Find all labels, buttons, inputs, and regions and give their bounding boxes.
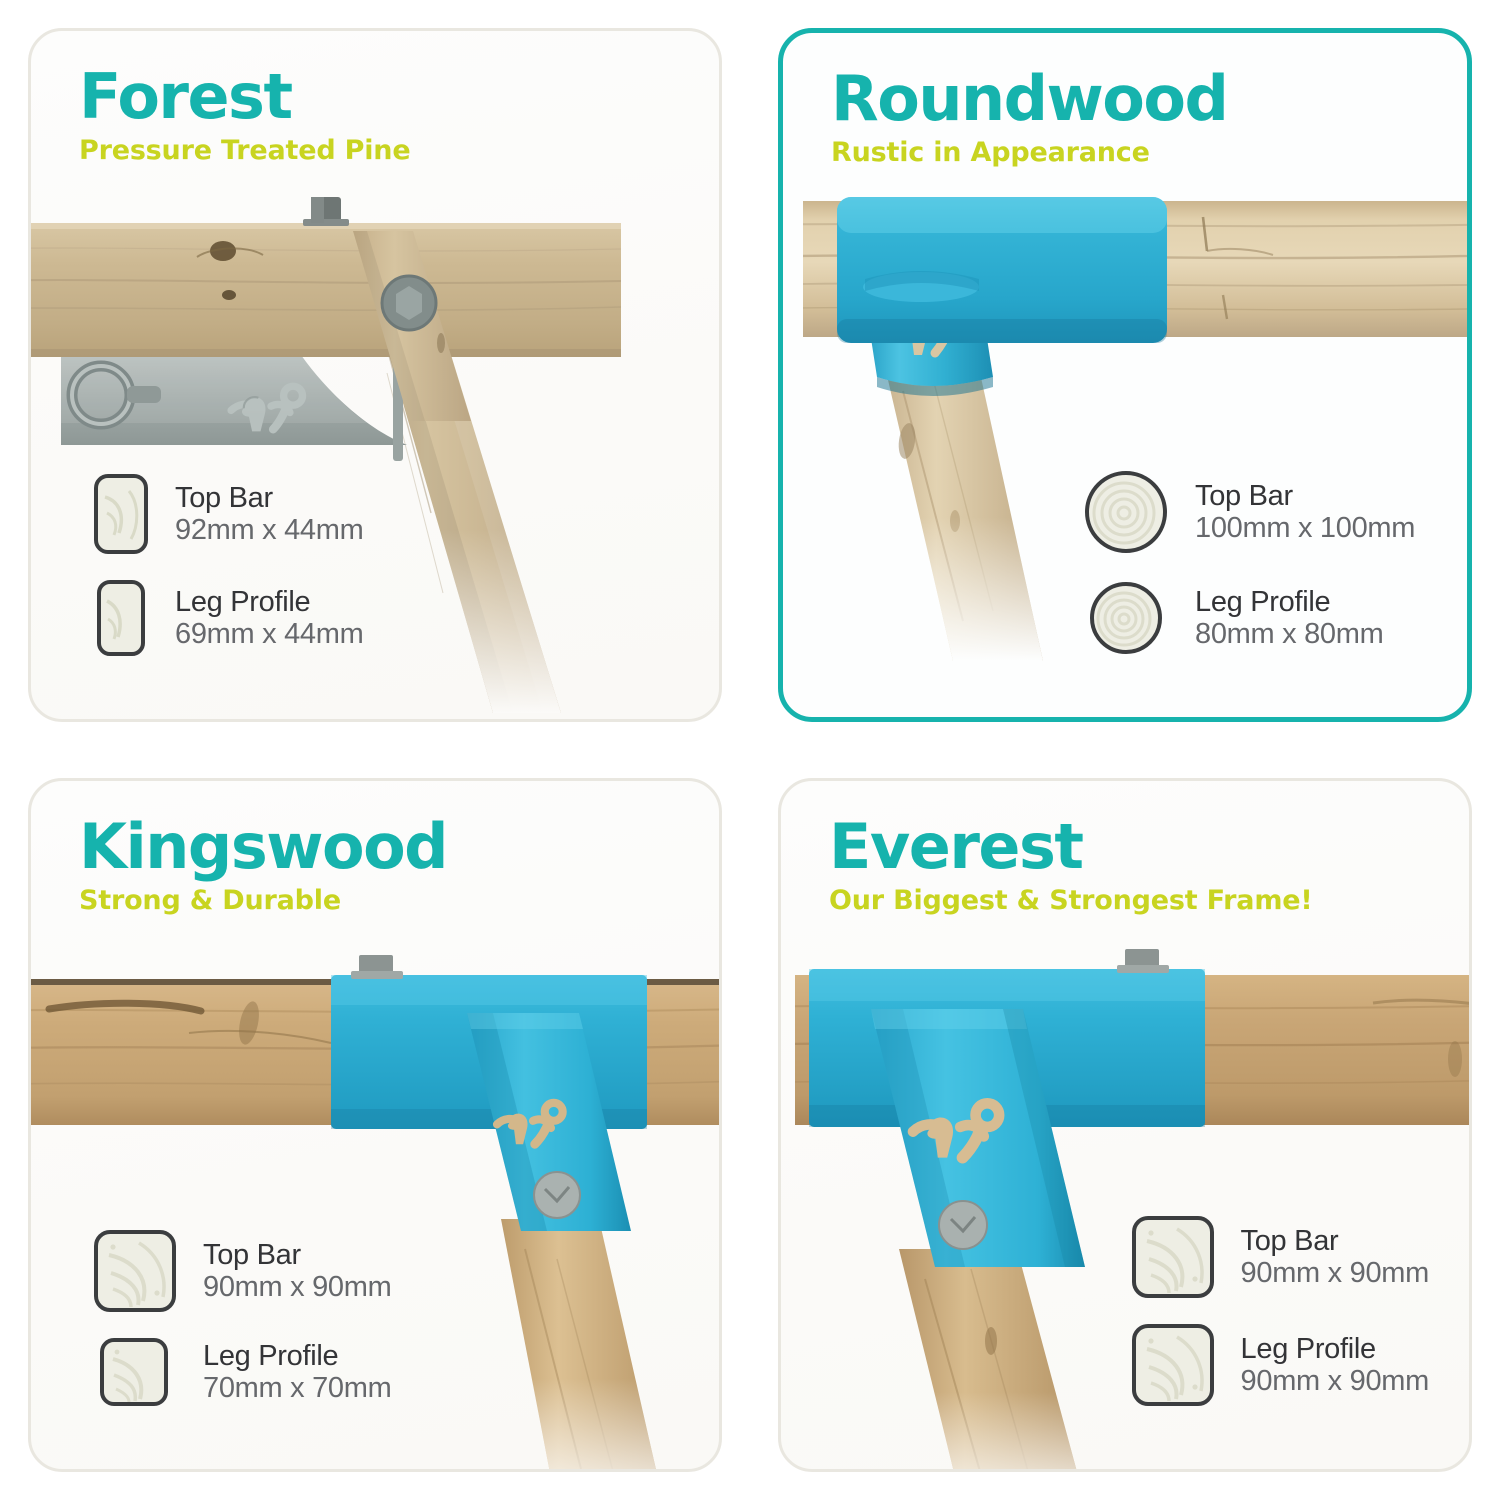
frame-card-roundwood[interactable]: Roundwood Rustic in Appearance bbox=[778, 28, 1472, 722]
top-bar-profile-circle-icon bbox=[1083, 469, 1169, 555]
spec-list-roundwood: Top Bar 100mm x 100mm bbox=[1083, 469, 1415, 657]
leg-profile-rounded-rectangle-icon bbox=[93, 579, 149, 657]
spec-row: Top Bar 90mm x 90mm bbox=[1131, 1215, 1429, 1299]
spec-row: Top Bar 92mm x 44mm bbox=[93, 473, 363, 555]
spec-dimension: 80mm x 80mm bbox=[1195, 618, 1383, 650]
card-title: Kingswood bbox=[79, 815, 447, 879]
spec-row: Top Bar 100mm x 100mm bbox=[1083, 469, 1415, 555]
spec-label: Top Bar bbox=[175, 482, 273, 514]
spec-row: Leg Profile 70mm x 70mm bbox=[93, 1337, 391, 1407]
frame-card-everest[interactable]: Everest Our Biggest & Strongest Frame! bbox=[778, 778, 1472, 1472]
spec-label: Leg Profile bbox=[1195, 586, 1330, 618]
spec-dimension: 90mm x 90mm bbox=[1241, 1365, 1429, 1397]
card-header-everest: Everest Our Biggest & Strongest Frame! bbox=[829, 815, 1312, 916]
spec-dimension: 92mm x 44mm bbox=[175, 514, 363, 546]
card-header-roundwood: Roundwood Rustic in Appearance bbox=[831, 67, 1227, 168]
top-bar-profile-square-icon bbox=[93, 1229, 177, 1313]
card-subtitle: Strong & Durable bbox=[79, 885, 447, 916]
card-header-forest: Forest Pressure Treated Pine bbox=[79, 65, 410, 166]
spec-list-kingswood: Top Bar 90mm x 90mm bbox=[93, 1229, 391, 1407]
spec-dimension: 100mm x 100mm bbox=[1195, 512, 1415, 544]
frame-card-forest[interactable]: Forest Pressure Treated Pine Top Bar bbox=[28, 28, 722, 722]
spec-row: Leg Profile 69mm x 44mm bbox=[93, 579, 363, 657]
spec-dimension: 69mm x 44mm bbox=[175, 618, 363, 650]
spec-dimension: 70mm x 70mm bbox=[203, 1372, 391, 1404]
card-slot-roundwood: Roundwood Rustic in Appearance bbox=[750, 0, 1500, 750]
spec-label: Leg Profile bbox=[175, 586, 310, 618]
spec-dimension: 90mm x 90mm bbox=[203, 1271, 391, 1303]
card-title: Everest bbox=[829, 815, 1312, 879]
card-header-kingswood: Kingswood Strong & Durable bbox=[79, 815, 447, 916]
spec-list-forest: Top Bar 92mm x 44mm Leg Profile bbox=[93, 473, 363, 657]
card-subtitle: Our Biggest & Strongest Frame! bbox=[829, 885, 1312, 916]
card-slot-everest: Everest Our Biggest & Strongest Frame! bbox=[750, 750, 1500, 1500]
card-subtitle: Pressure Treated Pine bbox=[79, 135, 410, 166]
card-subtitle: Rustic in Appearance bbox=[831, 137, 1227, 168]
spec-label: Leg Profile bbox=[203, 1340, 338, 1372]
card-slot-forest: Forest Pressure Treated Pine Top Bar bbox=[0, 0, 750, 750]
leg-profile-circle-icon bbox=[1083, 579, 1169, 657]
frame-card-kingswood[interactable]: Kingswood Strong & Durable bbox=[28, 778, 722, 1472]
spec-row: Top Bar 90mm x 90mm bbox=[93, 1229, 391, 1313]
leg-profile-square-icon bbox=[1131, 1323, 1215, 1407]
card-title: Roundwood bbox=[831, 67, 1227, 131]
spec-list-everest: Top Bar 90mm x 90mm bbox=[1131, 1215, 1429, 1407]
spec-row: Leg Profile 90mm x 90mm bbox=[1131, 1323, 1429, 1407]
spec-label: Leg Profile bbox=[1241, 1333, 1376, 1365]
top-bar-profile-square-icon bbox=[1131, 1215, 1215, 1299]
spec-label: Top Bar bbox=[1241, 1225, 1339, 1257]
card-slot-kingswood: Kingswood Strong & Durable bbox=[0, 750, 750, 1500]
top-bar-profile-rounded-rectangle-icon bbox=[93, 473, 149, 555]
leg-profile-square-icon bbox=[93, 1337, 177, 1407]
frame-comparison-grid: Forest Pressure Treated Pine Top Bar bbox=[0, 0, 1500, 1500]
spec-row: Leg Profile 80mm x 80mm bbox=[1083, 579, 1415, 657]
spec-dimension: 90mm x 90mm bbox=[1241, 1257, 1429, 1289]
spec-label: Top Bar bbox=[1195, 480, 1293, 512]
spec-label: Top Bar bbox=[203, 1239, 301, 1271]
card-title: Forest bbox=[79, 65, 410, 129]
